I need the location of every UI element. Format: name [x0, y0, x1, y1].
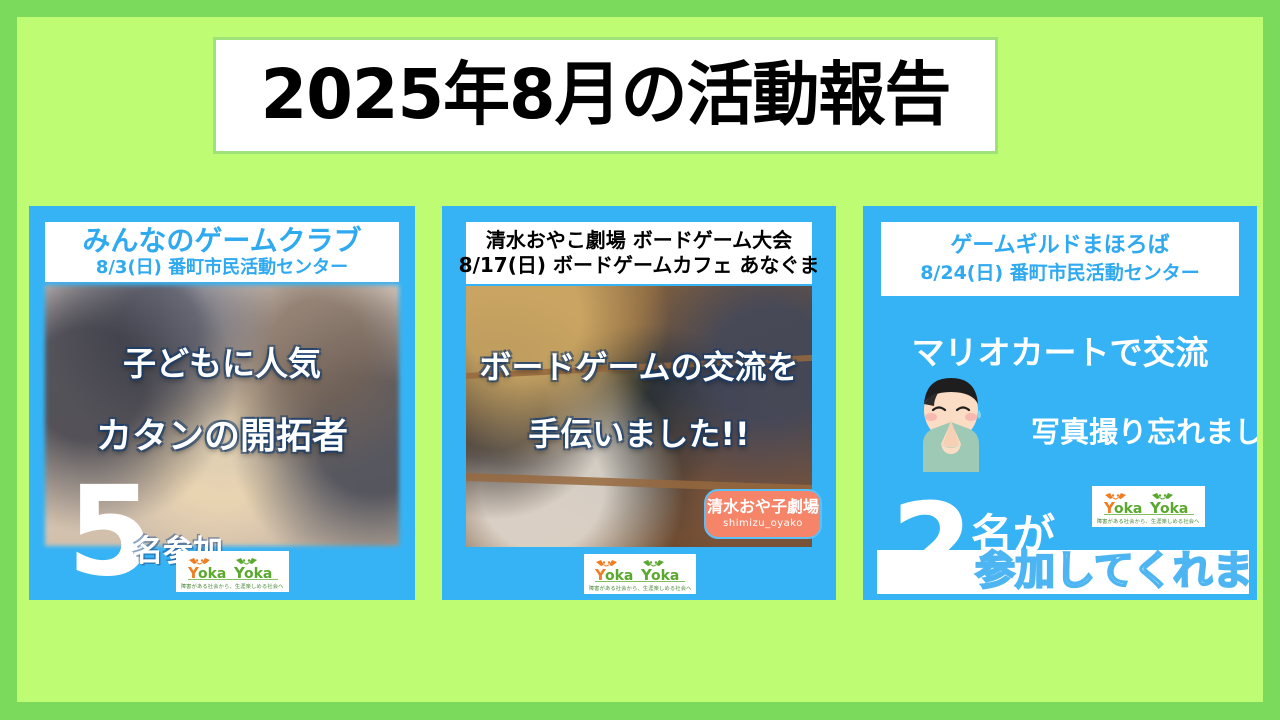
card-1-subtitle: 8/3(日) 番町市民活動センター — [96, 258, 348, 277]
card-1-title: みんなのゲームクラブ — [82, 226, 361, 256]
card-3-participant-count: 2 — [891, 498, 973, 595]
card-3-overlay-line-2: 写真撮り忘れました — [1031, 418, 1257, 447]
card-2-overlay-line-2: 手伝いました!! — [528, 418, 749, 450]
card-3-header: ゲームギルドまほろば 8/24(日) 番町市民活動センター — [881, 222, 1239, 296]
card-2-badge-handle: shimizu_oyako — [723, 519, 803, 529]
apologizing-person-icon — [909, 374, 993, 472]
yokayoka-logo: Y oka Y oka 障害がある社会から、生涯楽しめる社会へ — [584, 554, 696, 594]
yokayoka-logo-mark: Y oka Y oka — [185, 556, 281, 583]
activity-card-2[interactable]: 清水おやこ劇場 ボードゲーム大会 8/17(日) ボードゲームカフェ あなぐま … — [442, 206, 836, 600]
card-2-badge-title: 清水おや子劇場 — [707, 499, 819, 515]
yokayoka-logo-tagline: 障害がある社会から、生涯楽しめる社会へ — [589, 584, 692, 592]
page-title: 2025年8月の活動報告 — [261, 61, 951, 130]
yokayoka-logo-mark: Y oka Y oka — [592, 558, 688, 585]
page-title-box: 2025年8月の活動報告 — [213, 37, 998, 154]
yokayoka-logo: Y oka Y oka 障害がある社会から、生涯楽しめる社会へ — [1092, 486, 1205, 527]
activity-card-1[interactable]: みんなのゲームクラブ 8/3(日) 番町市民活動センター 子どもに人気 カタンの… — [29, 206, 415, 600]
card-3-subtitle: 8/24(日) 番町市民活動センター — [920, 263, 1200, 284]
card-2-title: 清水おやこ劇場 ボードゲーム大会 — [486, 230, 792, 252]
card-3-band-text: 参加してくれました — [975, 550, 1257, 592]
activity-card-3[interactable]: ゲームギルドまほろば 8/24(日) 番町市民活動センター マリオカートで交流 … — [863, 206, 1257, 600]
yokayoka-logo-tagline: 障害がある社会から、生涯楽しめる社会へ — [181, 581, 284, 589]
yokayoka-logo-mark: Y oka Y oka — [1101, 491, 1197, 518]
card-2-header: 清水おやこ劇場 ボードゲーム大会 8/17(日) ボードゲームカフェ あなぐま — [466, 222, 812, 284]
card-3-overlay-line-1: マリオカートで交流 — [912, 336, 1209, 369]
poster-root: 2025年8月の活動報告 みんなのゲームクラブ 8/3(日) 番町市民活動センタ… — [0, 0, 1280, 720]
poster-inner-panel: 2025年8月の活動報告 みんなのゲームクラブ 8/3(日) 番町市民活動センタ… — [17, 17, 1263, 702]
card-2-overlay-line-1: ボードゲームの交流を — [479, 351, 798, 383]
card-3-title: ゲームギルドまほろば — [950, 234, 1169, 258]
yokayoka-logo-tagline: 障害がある社会から、生涯楽しめる社会へ — [1097, 516, 1200, 524]
card-1-overlay-line-2: カタンの開拓者 — [96, 419, 348, 455]
card-1-overlay-line-1: 子どもに人気 — [123, 347, 321, 380]
card-2-credit-badge[interactable]: 清水おや子劇場 shimizu_oyako — [704, 489, 822, 539]
yokayoka-logo: Y oka Y oka 障害がある社会から、生涯楽しめる社会へ — [176, 551, 289, 592]
card-1-header: みんなのゲームクラブ 8/3(日) 番町市民活動センター — [45, 222, 399, 282]
card-2-subtitle: 8/17(日) ボードゲームカフェ あなぐま — [459, 255, 820, 277]
